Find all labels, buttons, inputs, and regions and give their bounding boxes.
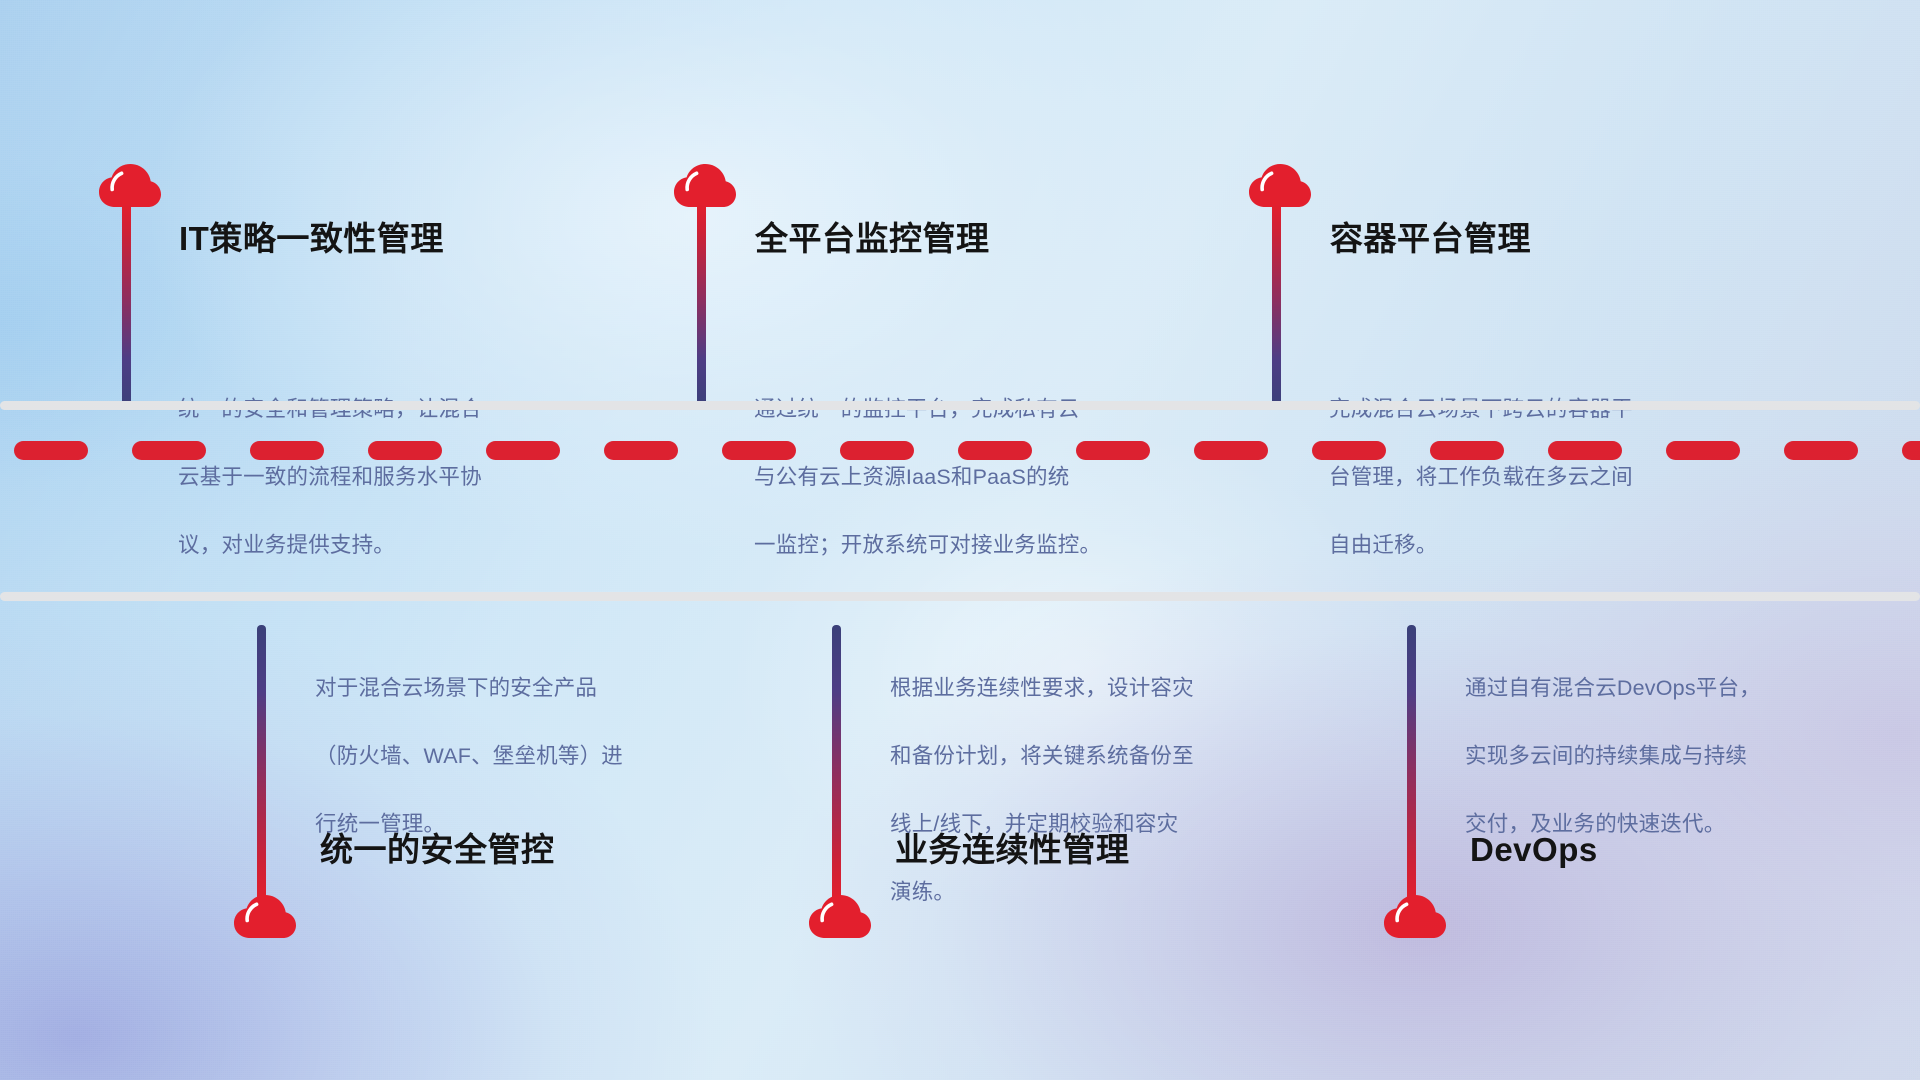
- dash-segment: [1076, 441, 1150, 460]
- dash-segment: [1784, 441, 1858, 460]
- divider-rule-bottom: [0, 592, 1920, 601]
- card-title: 统一的安全管控: [320, 833, 555, 866]
- card-title: IT策略一致性管理: [179, 222, 444, 255]
- cloud-icon: [808, 894, 872, 939]
- cloud-icon: [233, 894, 297, 939]
- dash-segment: [722, 441, 796, 460]
- dash-segment: [1430, 441, 1504, 460]
- dash-segment: [958, 441, 1032, 460]
- divider-rule-top: [0, 401, 1920, 410]
- stem-line: [697, 203, 706, 408]
- dash-segment: [368, 441, 442, 460]
- body-line: 根据业务连续性要求，设计容灾: [890, 671, 1330, 705]
- body-line: 和备份计划，将关键系统备份至: [890, 739, 1330, 773]
- body-line: 实现多云间的持续集成与持续: [1465, 739, 1895, 773]
- card-title: 全平台监控管理: [755, 222, 990, 255]
- stem-line: [1407, 625, 1416, 903]
- cloud-icon: [673, 163, 737, 208]
- cloud-icon: [98, 163, 162, 208]
- body-line: 演练。: [890, 875, 1330, 909]
- body-line: 议，对业务提供支持。: [178, 528, 608, 562]
- dash-segment: [604, 441, 678, 460]
- dash-segment: [14, 441, 88, 460]
- body-line: 一监控；开放系统可对接业务监控。: [754, 528, 1204, 562]
- card-title: 业务连续性管理: [895, 833, 1130, 866]
- card-body: 完成混合云场景下跨云的容器平 台管理，将工作负载在多云之间 自由迁移。: [1329, 358, 1759, 596]
- body-line: 自由迁移。: [1329, 528, 1759, 562]
- dashed-divider: [0, 441, 1920, 460]
- stem-line: [257, 625, 266, 903]
- dash-segment: [1312, 441, 1386, 460]
- dash-segment: [840, 441, 914, 460]
- dash-segment: [132, 441, 206, 460]
- dash-segment: [486, 441, 560, 460]
- card-title: DevOps: [1470, 833, 1598, 866]
- card-body: 根据业务连续性要求，设计容灾 和备份计划，将关键系统备份至 线上/线下，并定期校…: [890, 637, 1330, 943]
- stem-line: [1272, 203, 1281, 408]
- body-line: 云基于一致的流程和服务水平协: [178, 460, 608, 494]
- body-line: 与公有云上资源IaaS和PaaS的统: [754, 460, 1204, 494]
- cloud-icon: [1383, 894, 1447, 939]
- card-body: 统一的安全和管理策略，让混合 云基于一致的流程和服务水平协 议，对业务提供支持。: [178, 358, 608, 596]
- body-line: 对于混合云场景下的安全产品: [315, 671, 755, 705]
- dash-segment: [1666, 441, 1740, 460]
- cloud-icon: [1248, 163, 1312, 208]
- body-line: 通过自有混合云DevOps平台，: [1465, 671, 1895, 705]
- dash-segment: [1548, 441, 1622, 460]
- card-title: 容器平台管理: [1330, 222, 1531, 255]
- dash-segment: [1902, 441, 1920, 460]
- dash-segment: [250, 441, 324, 460]
- card-body: 通过统一的监控平台，完成私有云 与公有云上资源IaaS和PaaS的统 一监控；开…: [754, 358, 1204, 596]
- body-line: 台管理，将工作负载在多云之间: [1329, 460, 1759, 494]
- stem-line: [832, 625, 841, 903]
- dash-segment: [1194, 441, 1268, 460]
- body-line: （防火墙、WAF、堡垒机等）进: [315, 739, 755, 773]
- stem-line: [122, 203, 131, 408]
- infographic-canvas: IT策略一致性管理 统一的安全和管理策略，让混合 云基于一致的流程和服务水平协 …: [0, 0, 1920, 1080]
